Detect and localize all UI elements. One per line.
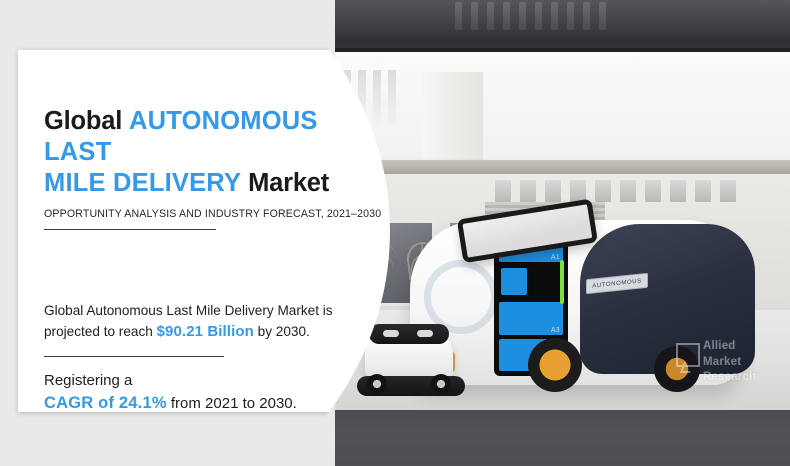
locker-cell: A3 (499, 302, 563, 335)
title-segment-accent-2: MILE DELIVERY (44, 169, 241, 197)
robot-chassis (357, 376, 465, 396)
building-overhang (335, 0, 790, 58)
stat-projection: Global Autonomous Last Mile Delivery Mar… (44, 300, 384, 342)
locker-label: A3 (551, 327, 563, 335)
sidewalk-delivery-robot (357, 324, 465, 406)
green-indicator-strip (560, 260, 564, 304)
photo-inner: A1 A3 A4 AUTONOMOUS (335, 0, 790, 466)
road-band (335, 410, 790, 466)
title-segment-plain-2: Market (241, 169, 329, 197)
autonomous-badge-label: AUTONOMOUS (592, 278, 642, 289)
robot-lid (369, 324, 449, 344)
divider-middle (44, 356, 224, 357)
divider-top (44, 229, 216, 230)
van-wheel-rear (654, 346, 700, 392)
van-wheel-front (528, 338, 582, 392)
card-text-block: Global AUTONOMOUS LASTMILE DELIVERY Mark… (44, 50, 384, 415)
stat-projection-value: $90.21 Billion (157, 323, 254, 340)
title-segment-plain: Global (44, 107, 129, 135)
overhang-slats (455, 2, 685, 30)
locker-cell-open (499, 266, 563, 299)
van-circle-logo (424, 260, 498, 334)
building-upper (335, 52, 790, 170)
robot-wheel (431, 374, 451, 394)
stat-cagr-value: CAGR of 24.1% (44, 394, 167, 412)
street-scene: A1 A3 A4 AUTONOMOUS (335, 52, 790, 416)
stat-projection-suffix: by 2030. (254, 324, 310, 339)
robot-wheel (367, 374, 387, 394)
page-subtitle: OPPORTUNITY ANALYSIS AND INDUSTRY FORECA… (44, 208, 384, 220)
stat-cagr-prefix: Registering a (44, 372, 132, 389)
page-title: Global AUTONOMOUS LASTMILE DELIVERY Mark… (44, 106, 384, 199)
stat-cagr-suffix: from 2021 to 2030. (167, 395, 297, 412)
